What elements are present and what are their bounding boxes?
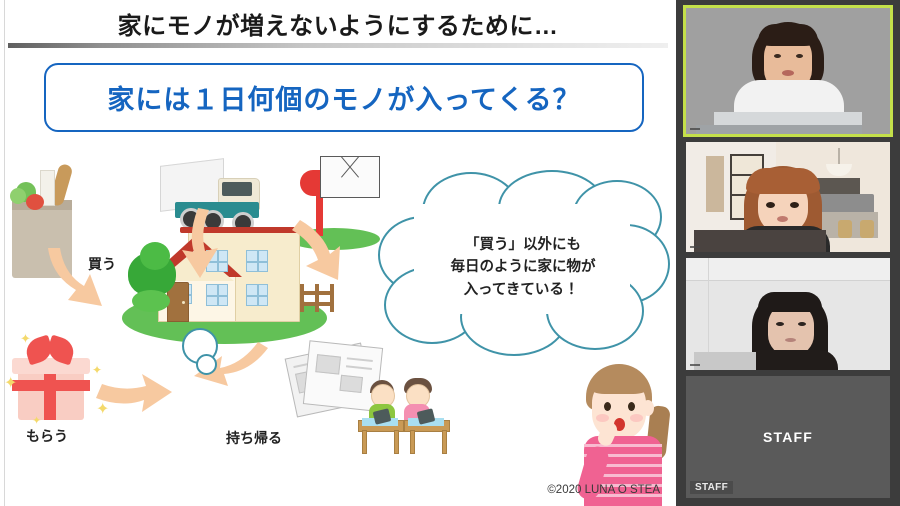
participant-mouth: [777, 216, 788, 222]
thought-bubble: 「買う」以外にも 毎日のように家に物が 入ってきている ！: [378, 170, 668, 360]
ceiling-edge: [686, 258, 890, 281]
thought-bubble-text: 「買う」以外にも 毎日のように家に物が 入ってきている ！: [418, 234, 628, 301]
video-tile-participant-2[interactable]: [686, 142, 890, 252]
presentation-slide[interactable]: 家にモノが増えないようにするために… 家には１日何個のモノが入ってくる？ 買う: [0, 0, 676, 506]
video-tile-center-label-staff: STAFF: [686, 376, 890, 498]
participant-eye-left: [776, 322, 784, 326]
stool-2: [860, 220, 874, 238]
title-divider: [8, 43, 668, 48]
video-tile-participant-3[interactable]: [686, 258, 890, 370]
desk-foreground: [694, 230, 826, 252]
participant-mouth: [785, 338, 796, 342]
video-tile-name-label-1: [690, 128, 700, 130]
flow-diagram: 買う 届く: [0, 132, 676, 506]
participant-eye-left: [774, 54, 781, 58]
door-frame: [706, 156, 724, 212]
slide-title: 家にモノが増えないようにするために…: [0, 4, 676, 42]
participant-video-panel: STAFF STAFF: [676, 0, 900, 506]
question-callout-box: 家には１日何個のモノが入ってくる？: [44, 63, 644, 132]
video-tile-name-label-staff: STAFF: [690, 481, 733, 494]
copyright-notice: ©2020 LUNA O STEA: [0, 484, 668, 496]
participant-eye-right: [796, 54, 803, 58]
video-tile-staff[interactable]: STAFF STAFF: [686, 376, 890, 498]
laptop-base: [696, 125, 862, 134]
participant-mouth: [782, 70, 794, 76]
meeting-screen-share-window: 家にモノが増えないようにするために… 家には１日何個のモノが入ってくる？ 買う: [0, 0, 900, 506]
video-tile-name-label-2: [690, 246, 700, 248]
video-tile-participant-1[interactable]: [686, 8, 890, 134]
participant-body: [742, 350, 838, 370]
video-tile-name-label-3: [690, 364, 700, 366]
participant-eye-left: [766, 202, 775, 208]
stool-1: [838, 220, 852, 238]
question-text: 家には１日何個のモノが入ってくる？: [107, 78, 580, 117]
participant-eye-right: [798, 322, 806, 326]
desk-foreground: [694, 352, 756, 370]
participant-fringe: [758, 24, 818, 46]
participant-fringe: [746, 168, 820, 194]
participant-fringe: [758, 292, 822, 312]
pendant-lamp-wire: [838, 148, 840, 164]
thought-bubble-small-2: [196, 354, 217, 375]
participant-eye-right: [790, 202, 799, 208]
